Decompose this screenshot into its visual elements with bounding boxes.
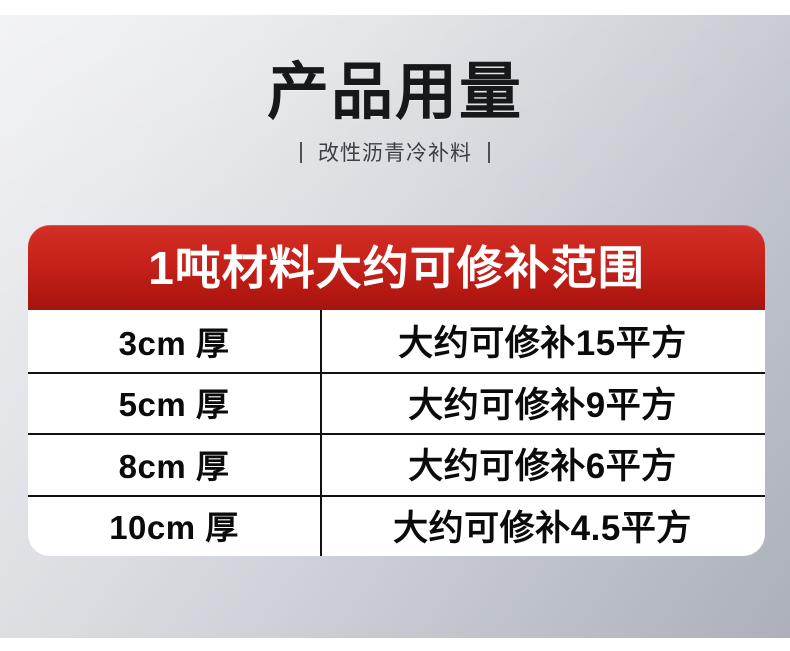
product-usage-poster: 产品用量 改性沥青冷补料 1吨材料大约可修补范围 3cm 厚 大约可修补15平方… [0, 0, 790, 651]
title-block: 产品用量 改性沥青冷补料 [0, 60, 790, 167]
thickness-cell: 5cm 厚 [28, 378, 320, 426]
table-row: 3cm 厚 大约可修补15平方 [28, 310, 765, 372]
table-row: 8cm 厚 大约可修补6平方 [28, 433, 765, 495]
subtitle-left-bar-icon [300, 142, 302, 163]
page-title: 产品用量 [0, 60, 790, 125]
card-body: 3cm 厚 大约可修补15平方 5cm 厚 大约可修补9平方 8cm 厚 大约可… [28, 310, 765, 556]
thickness-cell: 8cm 厚 [28, 440, 320, 488]
table-row: 5cm 厚 大约可修补9平方 [28, 372, 765, 434]
coverage-card: 1吨材料大约可修补范围 3cm 厚 大约可修补15平方 5cm 厚 大约可修补9… [28, 225, 765, 556]
card-header: 1吨材料大约可修补范围 [28, 225, 765, 310]
thickness-cell: 10cm 厚 [28, 501, 320, 549]
coverage-table: 3cm 厚 大约可修补15平方 5cm 厚 大约可修补9平方 8cm 厚 大约可… [28, 310, 765, 556]
coverage-cell: 大约可修补4.5平方 [320, 500, 765, 551]
coverage-cell: 大约可修补15平方 [320, 315, 765, 366]
table-row: 10cm 厚 大约可修补4.5平方 [28, 495, 765, 557]
coverage-cell: 大约可修补6平方 [320, 438, 765, 489]
coverage-cell: 大约可修补9平方 [320, 377, 765, 428]
card-header-title: 1吨材料大约可修补范围 [148, 245, 645, 291]
table-column-divider [320, 310, 322, 556]
subtitle-right-bar-icon [488, 142, 490, 163]
thickness-cell: 3cm 厚 [28, 317, 320, 365]
subtitle-row: 改性沥青冷补料 [0, 137, 790, 167]
page-subtitle: 改性沥青冷补料 [318, 137, 472, 167]
